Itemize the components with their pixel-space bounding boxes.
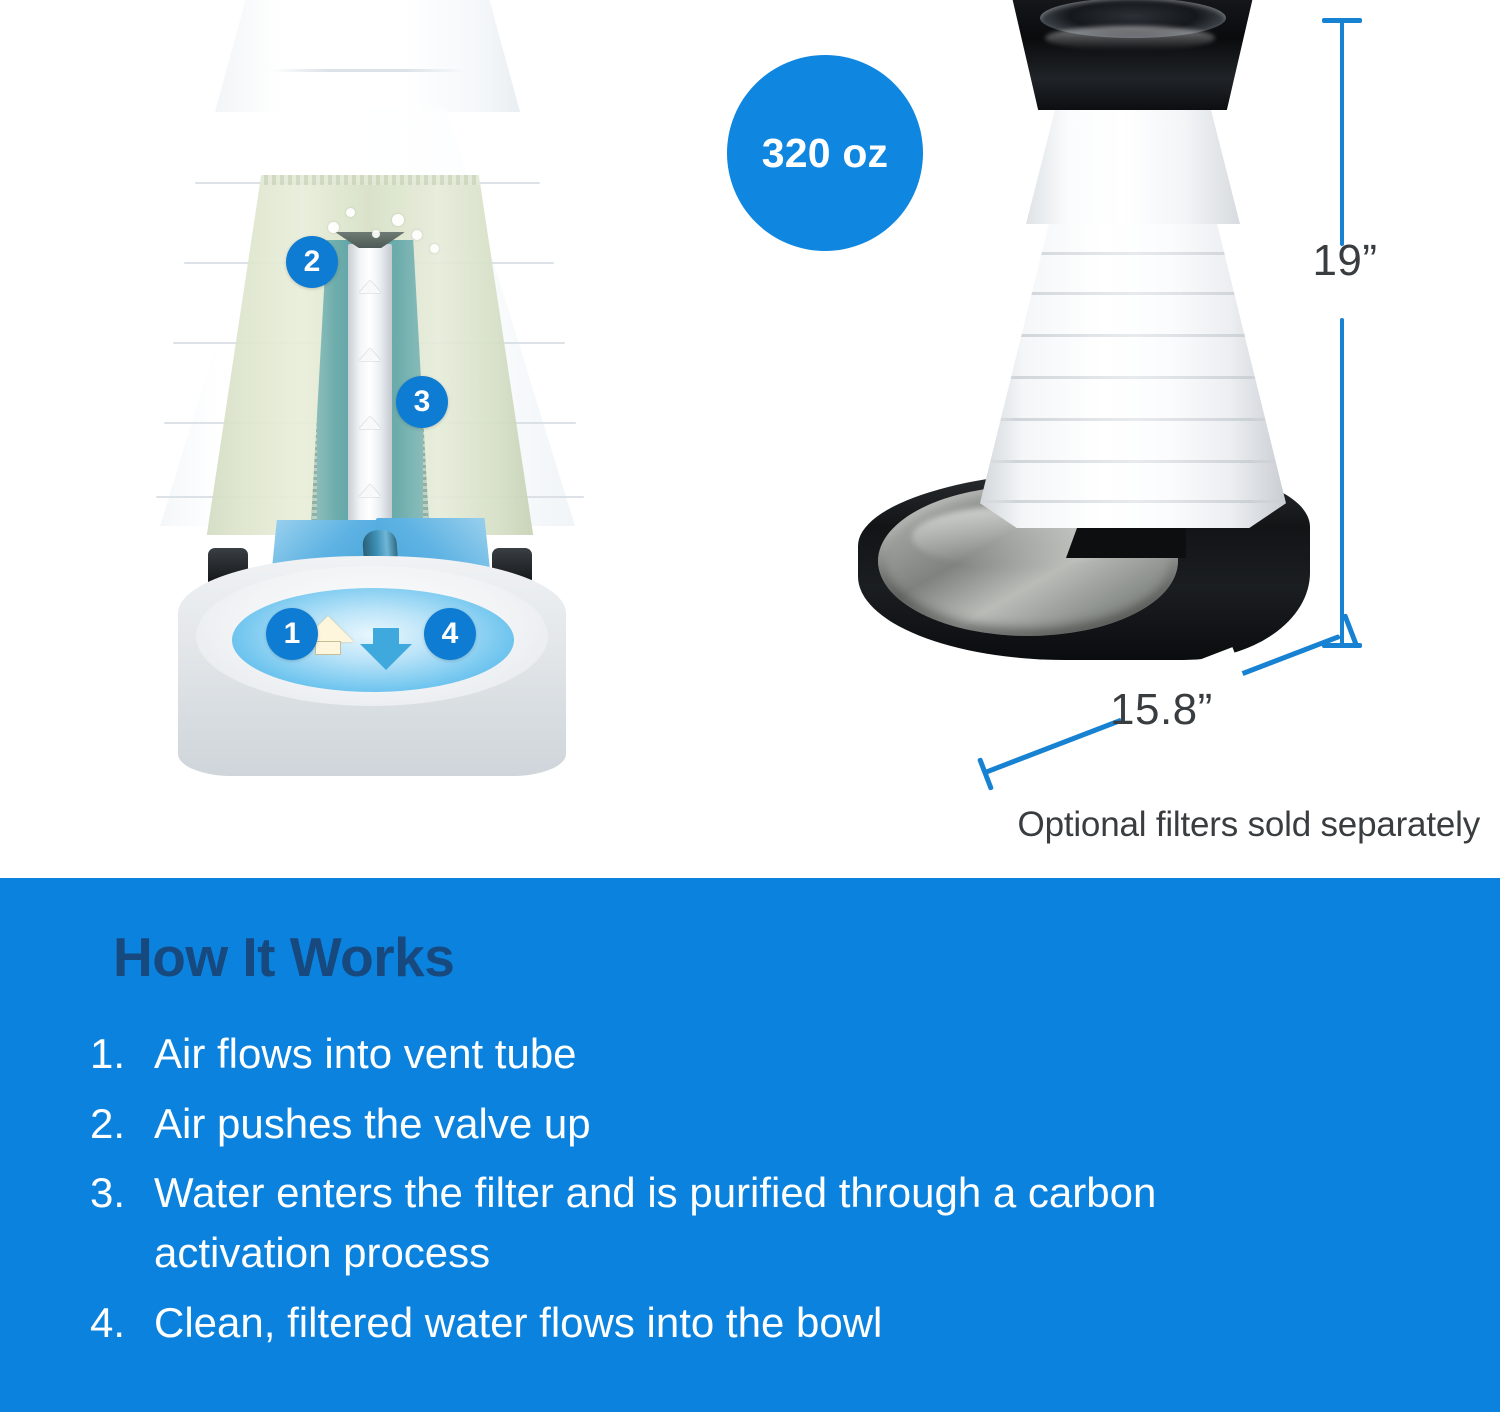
list-item: 3. Water enters the filter and is purifi… (90, 1163, 1390, 1282)
bottle-rib (980, 418, 1286, 421)
list-item-text: Air flows into vent tube (154, 1024, 1279, 1084)
height-dimension-line-upper (1340, 18, 1344, 246)
air-bubble (328, 222, 339, 233)
product-illustration-area: 1 2 3 4 320 oz 19” 15.8 (0, 0, 1500, 878)
air-bubble (346, 208, 355, 217)
callout-badge-1: 1 (266, 608, 318, 660)
height-dimension-line-lower (1340, 318, 1344, 648)
list-item: 2. Air pushes the valve up (90, 1094, 1390, 1154)
bottle-neck (1026, 106, 1240, 224)
bottle-rib (980, 252, 1286, 255)
filters-disclaimer: Optional filters sold separately (935, 805, 1480, 845)
list-item-number: 1. (90, 1024, 154, 1084)
list-item: 4. Clean, filtered water flows into the … (90, 1293, 1390, 1353)
how-it-works-list: 1. Air flows into vent tube 2. Air pushe… (90, 1024, 1390, 1362)
list-item-text: Water enters the filter and is purified … (154, 1163, 1279, 1282)
height-dimension-label: 19” (1300, 236, 1390, 286)
bottle-rib (980, 292, 1286, 295)
air-flow-triangle-icon (359, 348, 381, 361)
bottle-rib (980, 500, 1286, 503)
air-flow-triangle-icon (359, 416, 381, 429)
air-bubble (392, 214, 404, 226)
list-item-text: Clean, filtered water flows into the bow… (154, 1293, 1279, 1353)
list-item: 1. Air flows into vent tube (90, 1024, 1390, 1084)
air-flow-triangle-icon (359, 280, 381, 293)
air-bubble (372, 230, 380, 238)
air-bubble (430, 244, 439, 253)
list-item-text: Air pushes the valve up (154, 1094, 1279, 1154)
list-item-number: 2. (90, 1094, 154, 1154)
width-dimension-cap-right (1342, 613, 1359, 647)
cutaway-diagram: 1 2 3 4 (140, 0, 600, 800)
callout-badge-4: 4 (424, 608, 476, 660)
list-item-number: 4. (90, 1293, 154, 1353)
how-it-works-title: How It Works (113, 925, 454, 989)
air-bubble (412, 230, 422, 240)
cap-gloss-highlight (1045, 26, 1215, 50)
bottle-rib (980, 376, 1286, 379)
bottle-rib (980, 460, 1286, 463)
product-photo (830, 0, 1320, 720)
callout-badge-3: 3 (396, 376, 448, 428)
air-flow-triangle-icon (359, 484, 381, 497)
callout-badge-2: 2 (286, 236, 338, 288)
width-dimension-cap-left (977, 757, 994, 791)
water-bottle-body (980, 218, 1286, 528)
bottle-rib (980, 334, 1286, 337)
list-item-number: 3. (90, 1163, 154, 1223)
bottle-neck-shell (215, 0, 520, 112)
how-it-works-panel: How It Works 1. Air flows into vent tube… (0, 878, 1500, 1412)
width-dimension-label: 15.8” (1110, 685, 1213, 735)
